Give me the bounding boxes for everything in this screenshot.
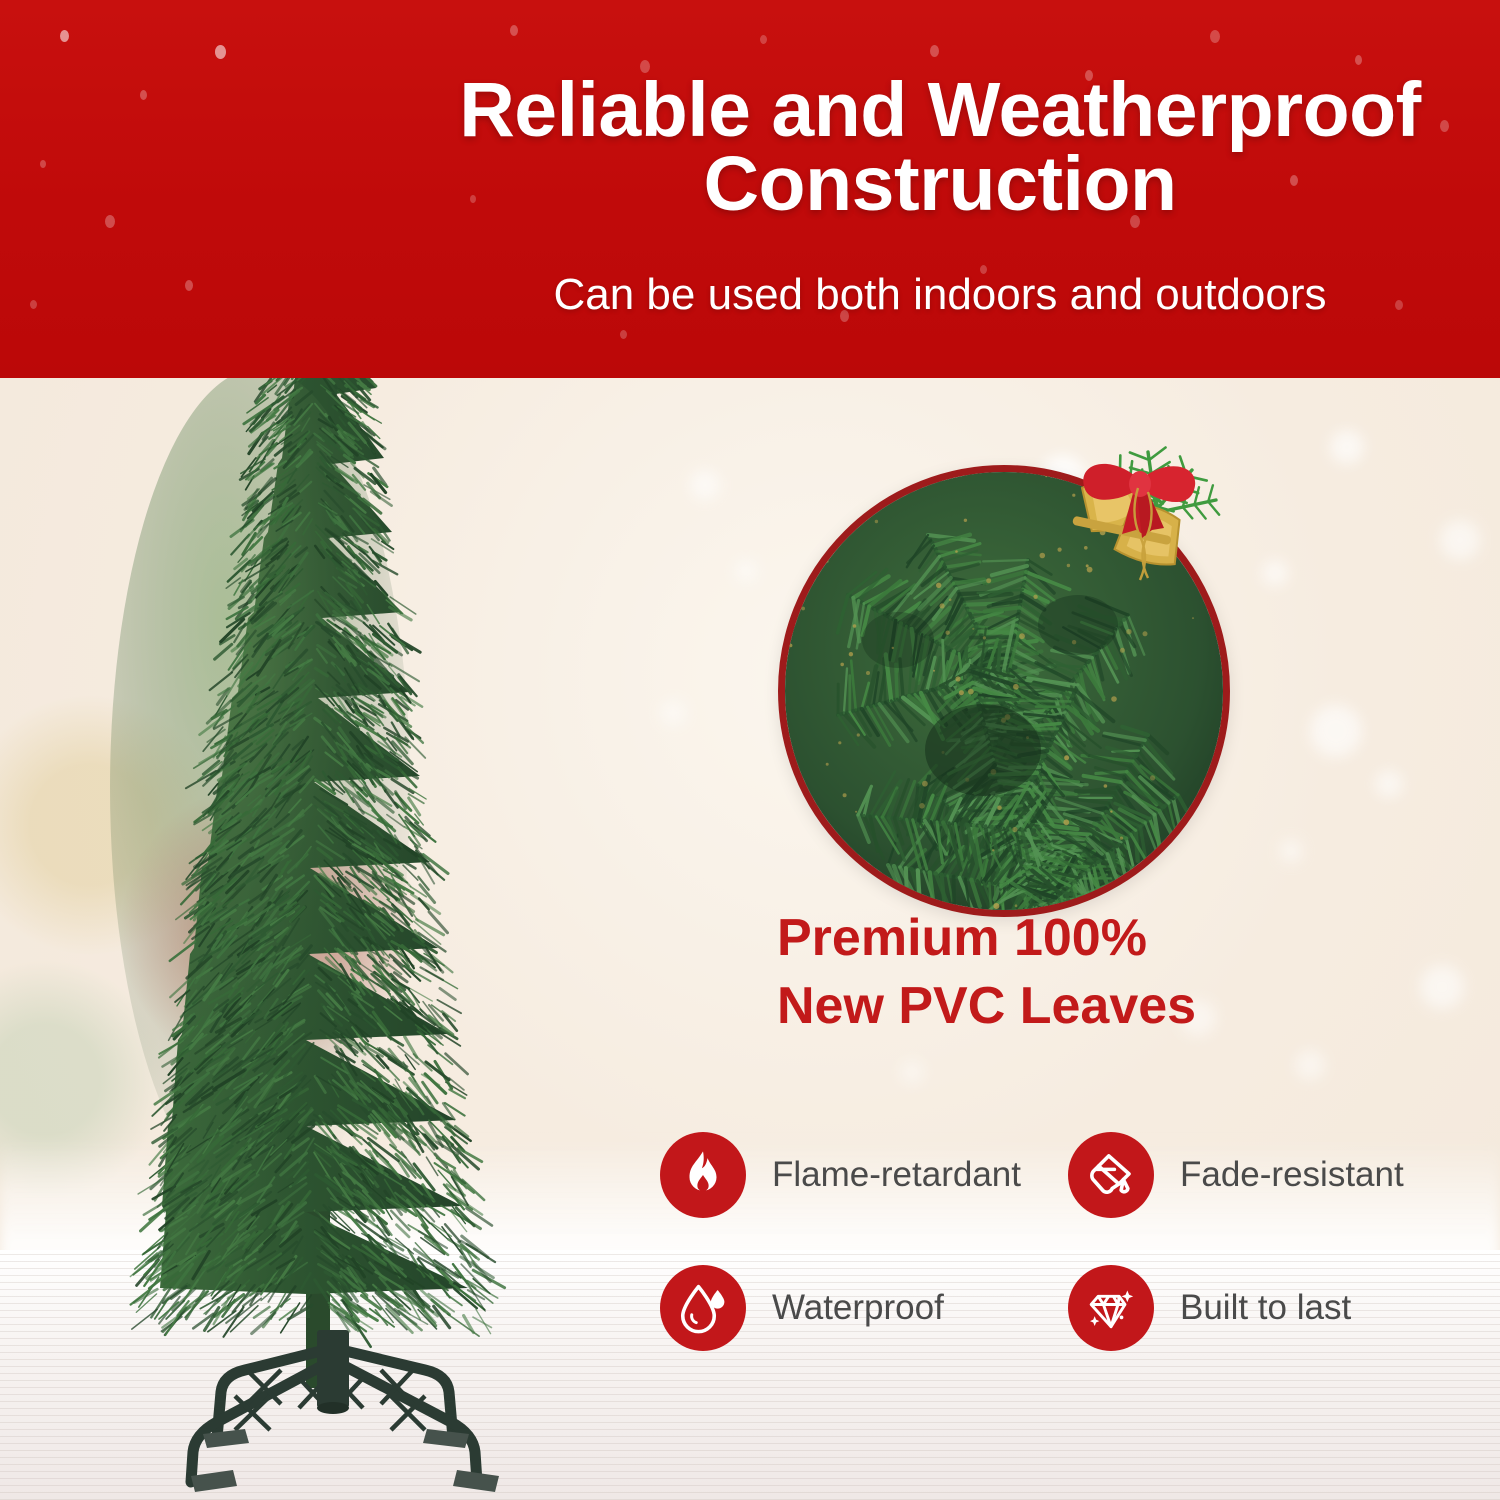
pvc-heading: Premium 100% New PVC Leaves (777, 905, 1477, 1040)
flame-icon (660, 1132, 746, 1218)
water-drop-icon (660, 1265, 746, 1351)
bells-bow-decoration (1020, 418, 1250, 608)
feature-label: Built to last (1180, 1288, 1351, 1328)
headline-banner: Reliable and Weatherproof Construction C… (0, 0, 1500, 378)
feature-fade-resistant: Fade-resistant (1068, 1108, 1476, 1241)
feature-label: Flame-retardant (772, 1155, 1021, 1195)
feature-built-to-last: Built to last (1068, 1241, 1476, 1374)
pvc-heading-line-1: Premium 100% (777, 905, 1477, 973)
feature-label: Fade-resistant (1180, 1155, 1404, 1195)
pvc-heading-line-2: New PVC Leaves (777, 973, 1477, 1041)
paint-roller-icon (1068, 1132, 1154, 1218)
product-feature-banner: Reliable and Weatherproof Construction C… (0, 0, 1500, 1500)
feature-list: Flame-retardant Fade-resistant (660, 1108, 1480, 1374)
feature-flame-retardant: Flame-retardant (660, 1108, 1068, 1241)
diamond-icon (1068, 1265, 1154, 1351)
feature-waterproof: Waterproof (660, 1241, 1068, 1374)
headline-line-1: Reliable and Weatherproof (400, 74, 1480, 148)
tree-stand (95, 1330, 565, 1500)
headline-line-2: Construction (400, 148, 1480, 222)
subheadline: Can be used both indoors and outdoors (400, 270, 1480, 320)
feature-label: Waterproof (772, 1288, 944, 1328)
page-title: Reliable and Weatherproof Construction (400, 74, 1480, 222)
